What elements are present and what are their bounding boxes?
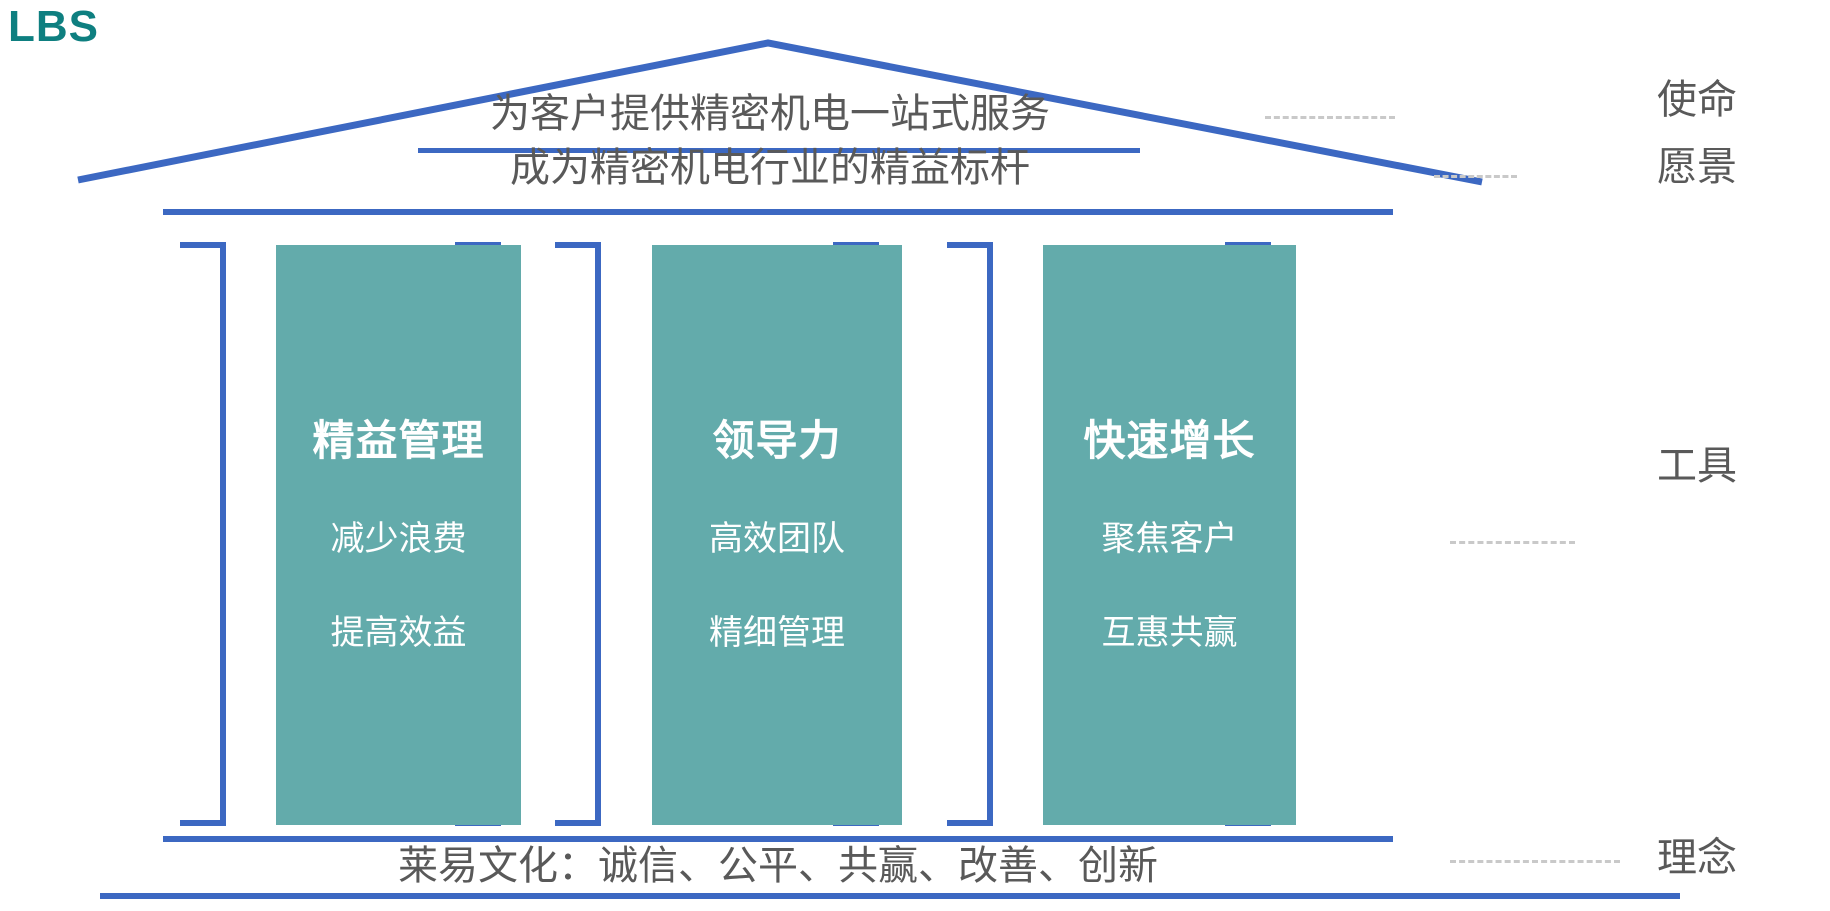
connector-tools xyxy=(1450,541,1575,544)
bracket-bottom-bar xyxy=(947,820,993,826)
bracket-vertical-bar xyxy=(987,242,993,826)
pillar-point-2: 互惠共赢 xyxy=(1102,616,1238,650)
connector-mission xyxy=(1265,116,1395,119)
pillar-title: 领导力 xyxy=(712,420,841,462)
pillar-bracket-left-2 xyxy=(555,242,601,826)
pillar-title: 快速增长 xyxy=(1083,420,1255,462)
pillar-rapid-growth[interactable]: 快速增长 聚焦客户 互惠共赢 xyxy=(1043,245,1296,825)
side-label-vision: 愿景 xyxy=(1657,147,1737,187)
pillar-point-2: 提高效益 xyxy=(331,616,467,650)
vision-statement: 成为精密机电行业的精益标杆 xyxy=(400,148,1140,188)
pillar-bracket-left-3 xyxy=(947,242,993,826)
foundation-top-rule xyxy=(163,836,1393,842)
bracket-bottom-bar xyxy=(180,820,226,826)
pillar-point-1: 聚焦客户 xyxy=(1102,522,1238,556)
bracket-vertical-bar xyxy=(220,242,226,826)
culture-statement: 莱易文化：诚信、公平、共赢、改善、创新 xyxy=(163,846,1393,886)
vision-underline xyxy=(163,209,1393,215)
pillar-lean-management[interactable]: 精益管理 减少浪费 提高效益 xyxy=(276,245,521,825)
side-label-idea: 理念 xyxy=(1657,838,1737,878)
mission-statement: 为客户提供精密机电一站式服务 xyxy=(400,94,1140,134)
pillar-point-1: 高效团队 xyxy=(709,522,845,556)
pillar-title: 精益管理 xyxy=(312,420,484,462)
pillar-point-1: 减少浪费 xyxy=(331,522,467,556)
connector-vision xyxy=(1434,175,1517,178)
pillar-bracket-left-1 xyxy=(180,242,226,826)
house-diagram: LBS 为客户提供精密机电一站式服务 成为精密机电行业的精益标杆 xyxy=(0,0,1830,911)
side-label-mission: 使命 xyxy=(1657,80,1737,120)
roof-outline-icon xyxy=(0,0,1830,911)
connector-idea xyxy=(1450,860,1620,863)
bracket-bottom-bar xyxy=(555,820,601,826)
lbs-logo: LBS xyxy=(8,4,99,50)
foundation-bottom-rule xyxy=(100,893,1680,899)
pillar-leadership[interactable]: 领导力 高效团队 精细管理 xyxy=(652,245,902,825)
bracket-vertical-bar xyxy=(595,242,601,826)
pillar-point-2: 精细管理 xyxy=(709,616,845,650)
side-label-tools: 工具 xyxy=(1657,446,1737,486)
